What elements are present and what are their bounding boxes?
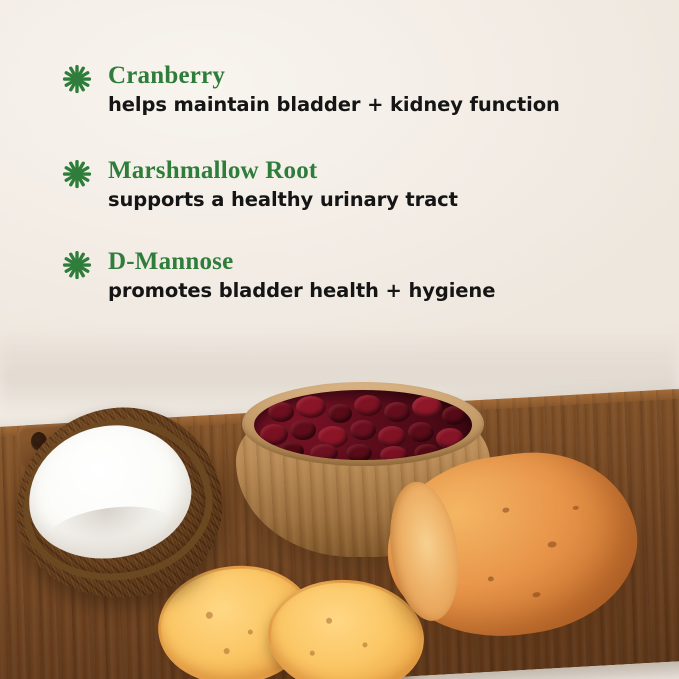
benefit-description: supports a healthy urinary tract: [108, 188, 458, 211]
benefit-title: D-Mannose: [108, 248, 495, 276]
benefit-description: helps maintain bladder + kidney function: [108, 93, 560, 116]
benefit-title: Marshmallow Root: [108, 157, 458, 185]
benefit-text-d-mannose: D-Mannose promotes bladder health + hygi…: [108, 248, 495, 302]
benefit-title: Cranberry: [108, 62, 560, 90]
ingredient-benefits-image: Cranberry helps maintain bladder + kidne…: [0, 0, 679, 679]
benefit-item-cranberry: Cranberry helps maintain bladder + kidne…: [62, 62, 560, 116]
benefit-item-d-mannose: D-Mannose promotes bladder health + hygi…: [62, 248, 495, 302]
benefit-description: promotes bladder health + hygiene: [108, 279, 495, 302]
benefit-text-cranberry: Cranberry helps maintain bladder + kidne…: [108, 62, 560, 116]
asterisk-star-icon: [62, 250, 92, 280]
benefit-item-marshmallow-root: Marshmallow Root supports a healthy urin…: [62, 157, 458, 211]
dried-cranberries: [254, 390, 472, 460]
benefits-text-block: Cranberry helps maintain bladder + kidne…: [0, 0, 679, 360]
benefit-text-marshmallow-root: Marshmallow Root supports a healthy urin…: [108, 157, 458, 211]
sweet-potato: [376, 439, 650, 662]
halved-coconut: [10, 400, 228, 605]
asterisk-star-icon: [62, 64, 92, 94]
asterisk-star-icon: [62, 159, 92, 189]
